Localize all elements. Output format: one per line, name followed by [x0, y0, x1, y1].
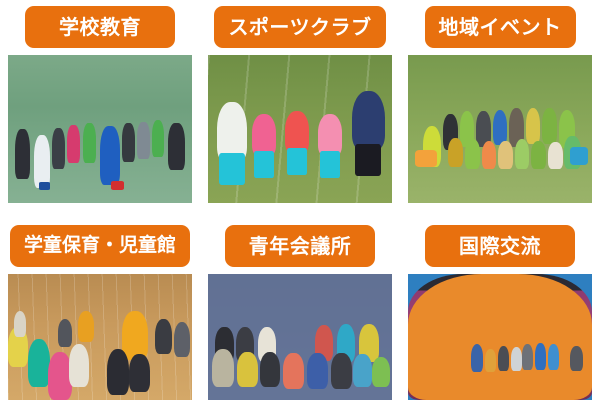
category-cell-community-event[interactable]: 地域イベント	[400, 0, 600, 218]
category-button-afterschool-childcare[interactable]: 学童保育・児童館	[10, 225, 190, 267]
category-button-community-event[interactable]: 地域イベント	[425, 6, 576, 48]
sports-club-field-photo[interactable]	[208, 55, 392, 203]
category-cell-junior-chamber[interactable]: 青年会議所	[200, 218, 400, 400]
category-cell-international-exchange[interactable]: 国際交流	[400, 218, 600, 400]
international-exchange-event-photo[interactable]	[408, 274, 592, 400]
category-label-school-education: 学校教育	[59, 17, 141, 37]
category-label-afterschool-childcare: 学童保育・児童館	[24, 236, 176, 255]
category-label-junior-chamber: 青年会議所	[249, 236, 352, 256]
community-event-group-photo[interactable]	[408, 55, 592, 203]
photo-people	[8, 274, 192, 400]
photo-people	[408, 274, 592, 400]
category-button-school-education[interactable]: 学校教育	[25, 6, 175, 48]
schoolyard-exercise-photo[interactable]	[8, 55, 192, 203]
photo-people	[208, 274, 392, 400]
category-button-junior-chamber[interactable]: 青年会議所	[225, 225, 375, 267]
category-board: 学校教育	[0, 0, 600, 400]
junior-chamber-gym-photo[interactable]	[208, 274, 392, 400]
photo-people	[208, 55, 392, 203]
category-cell-afterschool-childcare[interactable]: 学童保育・児童館	[0, 218, 200, 400]
category-label-sports-club: スポーツクラブ	[228, 17, 371, 37]
category-label-international-exchange: 国際交流	[459, 236, 541, 256]
photo-people	[408, 55, 592, 203]
category-cell-school-education[interactable]: 学校教育	[0, 0, 200, 218]
category-button-sports-club[interactable]: スポーツクラブ	[214, 6, 385, 48]
category-label-community-event: 地域イベント	[439, 17, 562, 37]
category-grid: 学校教育	[0, 0, 600, 400]
photo-people	[8, 55, 192, 203]
afterschool-gym-photo[interactable]	[8, 274, 192, 400]
category-cell-sports-club[interactable]: スポーツクラブ	[200, 0, 400, 218]
category-button-international-exchange[interactable]: 国際交流	[425, 225, 575, 267]
